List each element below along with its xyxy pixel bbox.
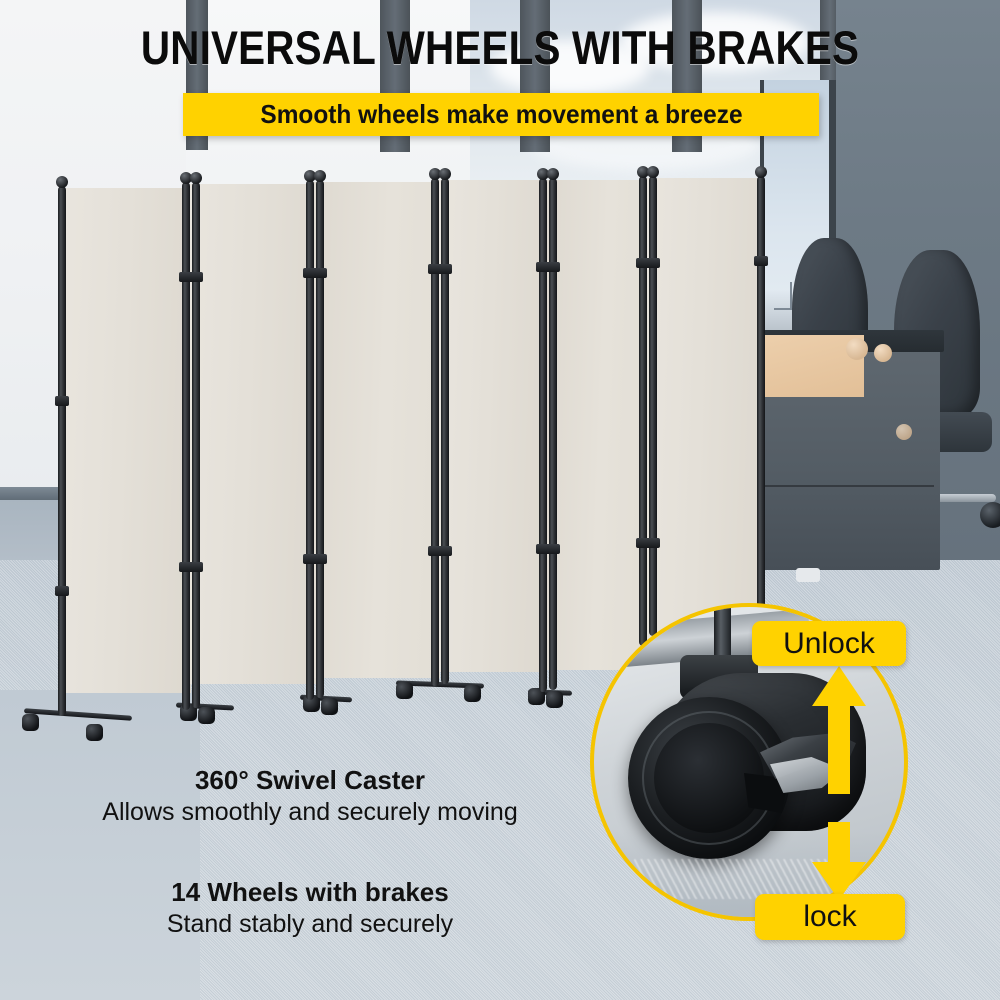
- lock-badge-label: lock: [803, 900, 856, 934]
- subtitle-banner-text: Smooth wheels make movement a breeze: [260, 99, 742, 130]
- feature-heading: 360° Swivel Caster: [40, 764, 580, 796]
- feature-block-brakes: 14 Wheels with brakes Stand stably and s…: [40, 876, 580, 941]
- divider-pole: [539, 178, 547, 692]
- divider-pole: [306, 180, 314, 700]
- divider-pole: [757, 176, 765, 616]
- divider-panel: [312, 182, 440, 678]
- feature-description: Stand stably and securely: [40, 908, 580, 941]
- subtitle-banner: Smooth wheels make movement a breeze: [183, 93, 819, 136]
- divider-panel: [545, 180, 647, 670]
- divider-pole: [639, 176, 647, 646]
- divider-panel: [645, 178, 763, 664]
- caster-wheel: [321, 698, 338, 715]
- caster-wheel: [86, 724, 103, 741]
- lock-badge: lock: [755, 894, 905, 940]
- feature-heading: 14 Wheels with brakes: [40, 876, 580, 908]
- divider-panel: [63, 188, 191, 693]
- caster-wheel: [464, 685, 481, 702]
- divider-pole: [549, 178, 557, 690]
- caster-wheel: [198, 707, 215, 724]
- divider-pole: [192, 182, 200, 708]
- feature-block-swivel: 360° Swivel Caster Allows smoothly and s…: [40, 764, 580, 829]
- divider-pole: [58, 186, 66, 716]
- feature-description: Allows smoothly and securely moving: [40, 796, 580, 829]
- lock-direction-arrow: [812, 822, 866, 900]
- unlock-badge-label: Unlock: [783, 627, 875, 661]
- caster-wheel: [22, 714, 39, 731]
- unlock-badge: Unlock: [752, 621, 906, 666]
- divider-pole: [182, 182, 190, 710]
- divider-pole: [649, 176, 657, 636]
- divider-panel: [188, 184, 316, 684]
- caster-wheel: [396, 682, 413, 699]
- divider-foot-bar: [24, 708, 132, 721]
- product-feature-image: UNIVERSAL WHEELS WITH BRAKES Smooth whee…: [0, 0, 1000, 1000]
- divider-panel: [437, 180, 547, 672]
- page-title: UNIVERSAL WHEELS WITH BRAKES: [70, 22, 930, 74]
- divider-pole: [441, 178, 449, 684]
- divider-pole: [316, 180, 324, 698]
- divider-pole: [431, 178, 439, 686]
- unlock-direction-arrow: [812, 666, 866, 794]
- caster-wheel: [546, 691, 563, 708]
